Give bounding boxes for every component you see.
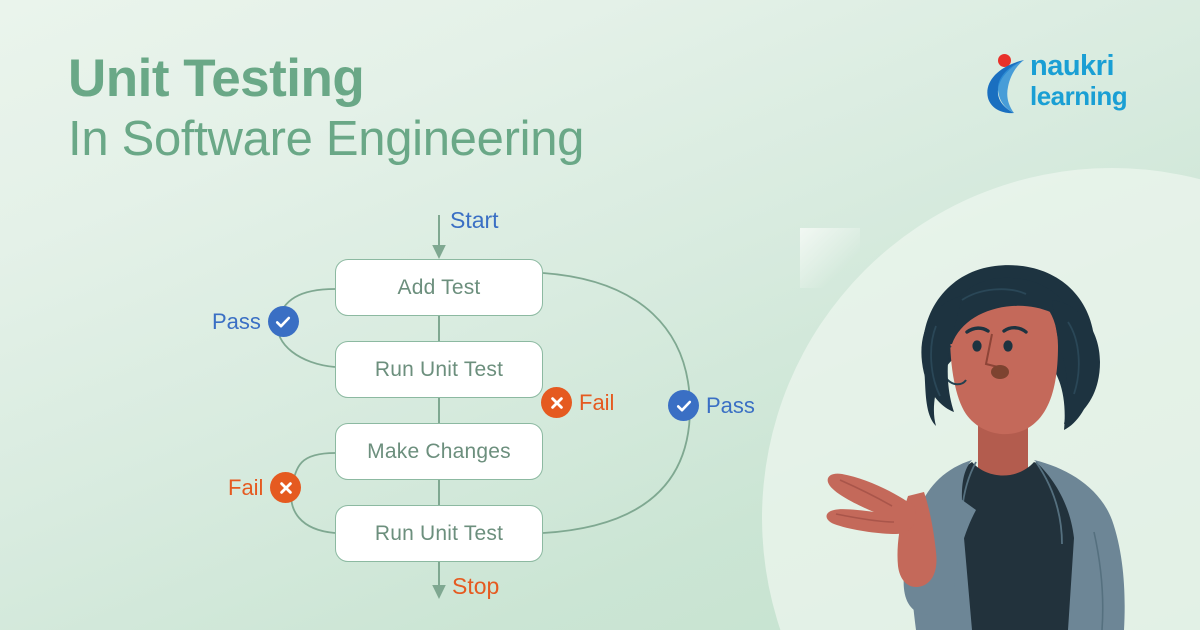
woman-presenting-illustration — [812, 248, 1200, 630]
badge-label: Fail — [228, 477, 263, 499]
flow-node-add-test[interactable]: Add Test — [335, 259, 543, 316]
eye-left — [972, 340, 981, 351]
hand — [827, 474, 917, 534]
flow-node-label: Make Changes — [367, 440, 511, 464]
eye-right — [1003, 340, 1012, 351]
flow-node-label: Run Unit Test — [375, 358, 503, 382]
badge-pass-left: Pass — [212, 306, 299, 337]
poster-canvas: Unit Testing In Software Engineering nau… — [0, 0, 1200, 630]
flow-node-run-unit-test-1[interactable]: Run Unit Test — [335, 341, 543, 398]
badge-label: Pass — [212, 311, 261, 333]
flow-start-label: Start — [450, 209, 499, 232]
badge-label: Pass — [706, 395, 755, 417]
badge-fail-left: Fail — [228, 472, 301, 503]
mouth — [991, 365, 1009, 379]
badge-pass-right: Pass — [668, 390, 755, 421]
cross-icon — [270, 472, 301, 503]
cross-icon — [541, 387, 572, 418]
flow-node-label: Run Unit Test — [375, 522, 503, 546]
flow-stop-label: Stop — [452, 575, 499, 598]
badge-label: Fail — [579, 392, 614, 414]
flow-node-run-unit-test-2[interactable]: Run Unit Test — [335, 505, 543, 562]
badge-fail-middle: Fail — [541, 387, 614, 418]
check-icon — [668, 390, 699, 421]
flow-node-make-changes[interactable]: Make Changes — [335, 423, 543, 480]
check-icon — [268, 306, 299, 337]
flow-node-label: Add Test — [398, 276, 481, 300]
